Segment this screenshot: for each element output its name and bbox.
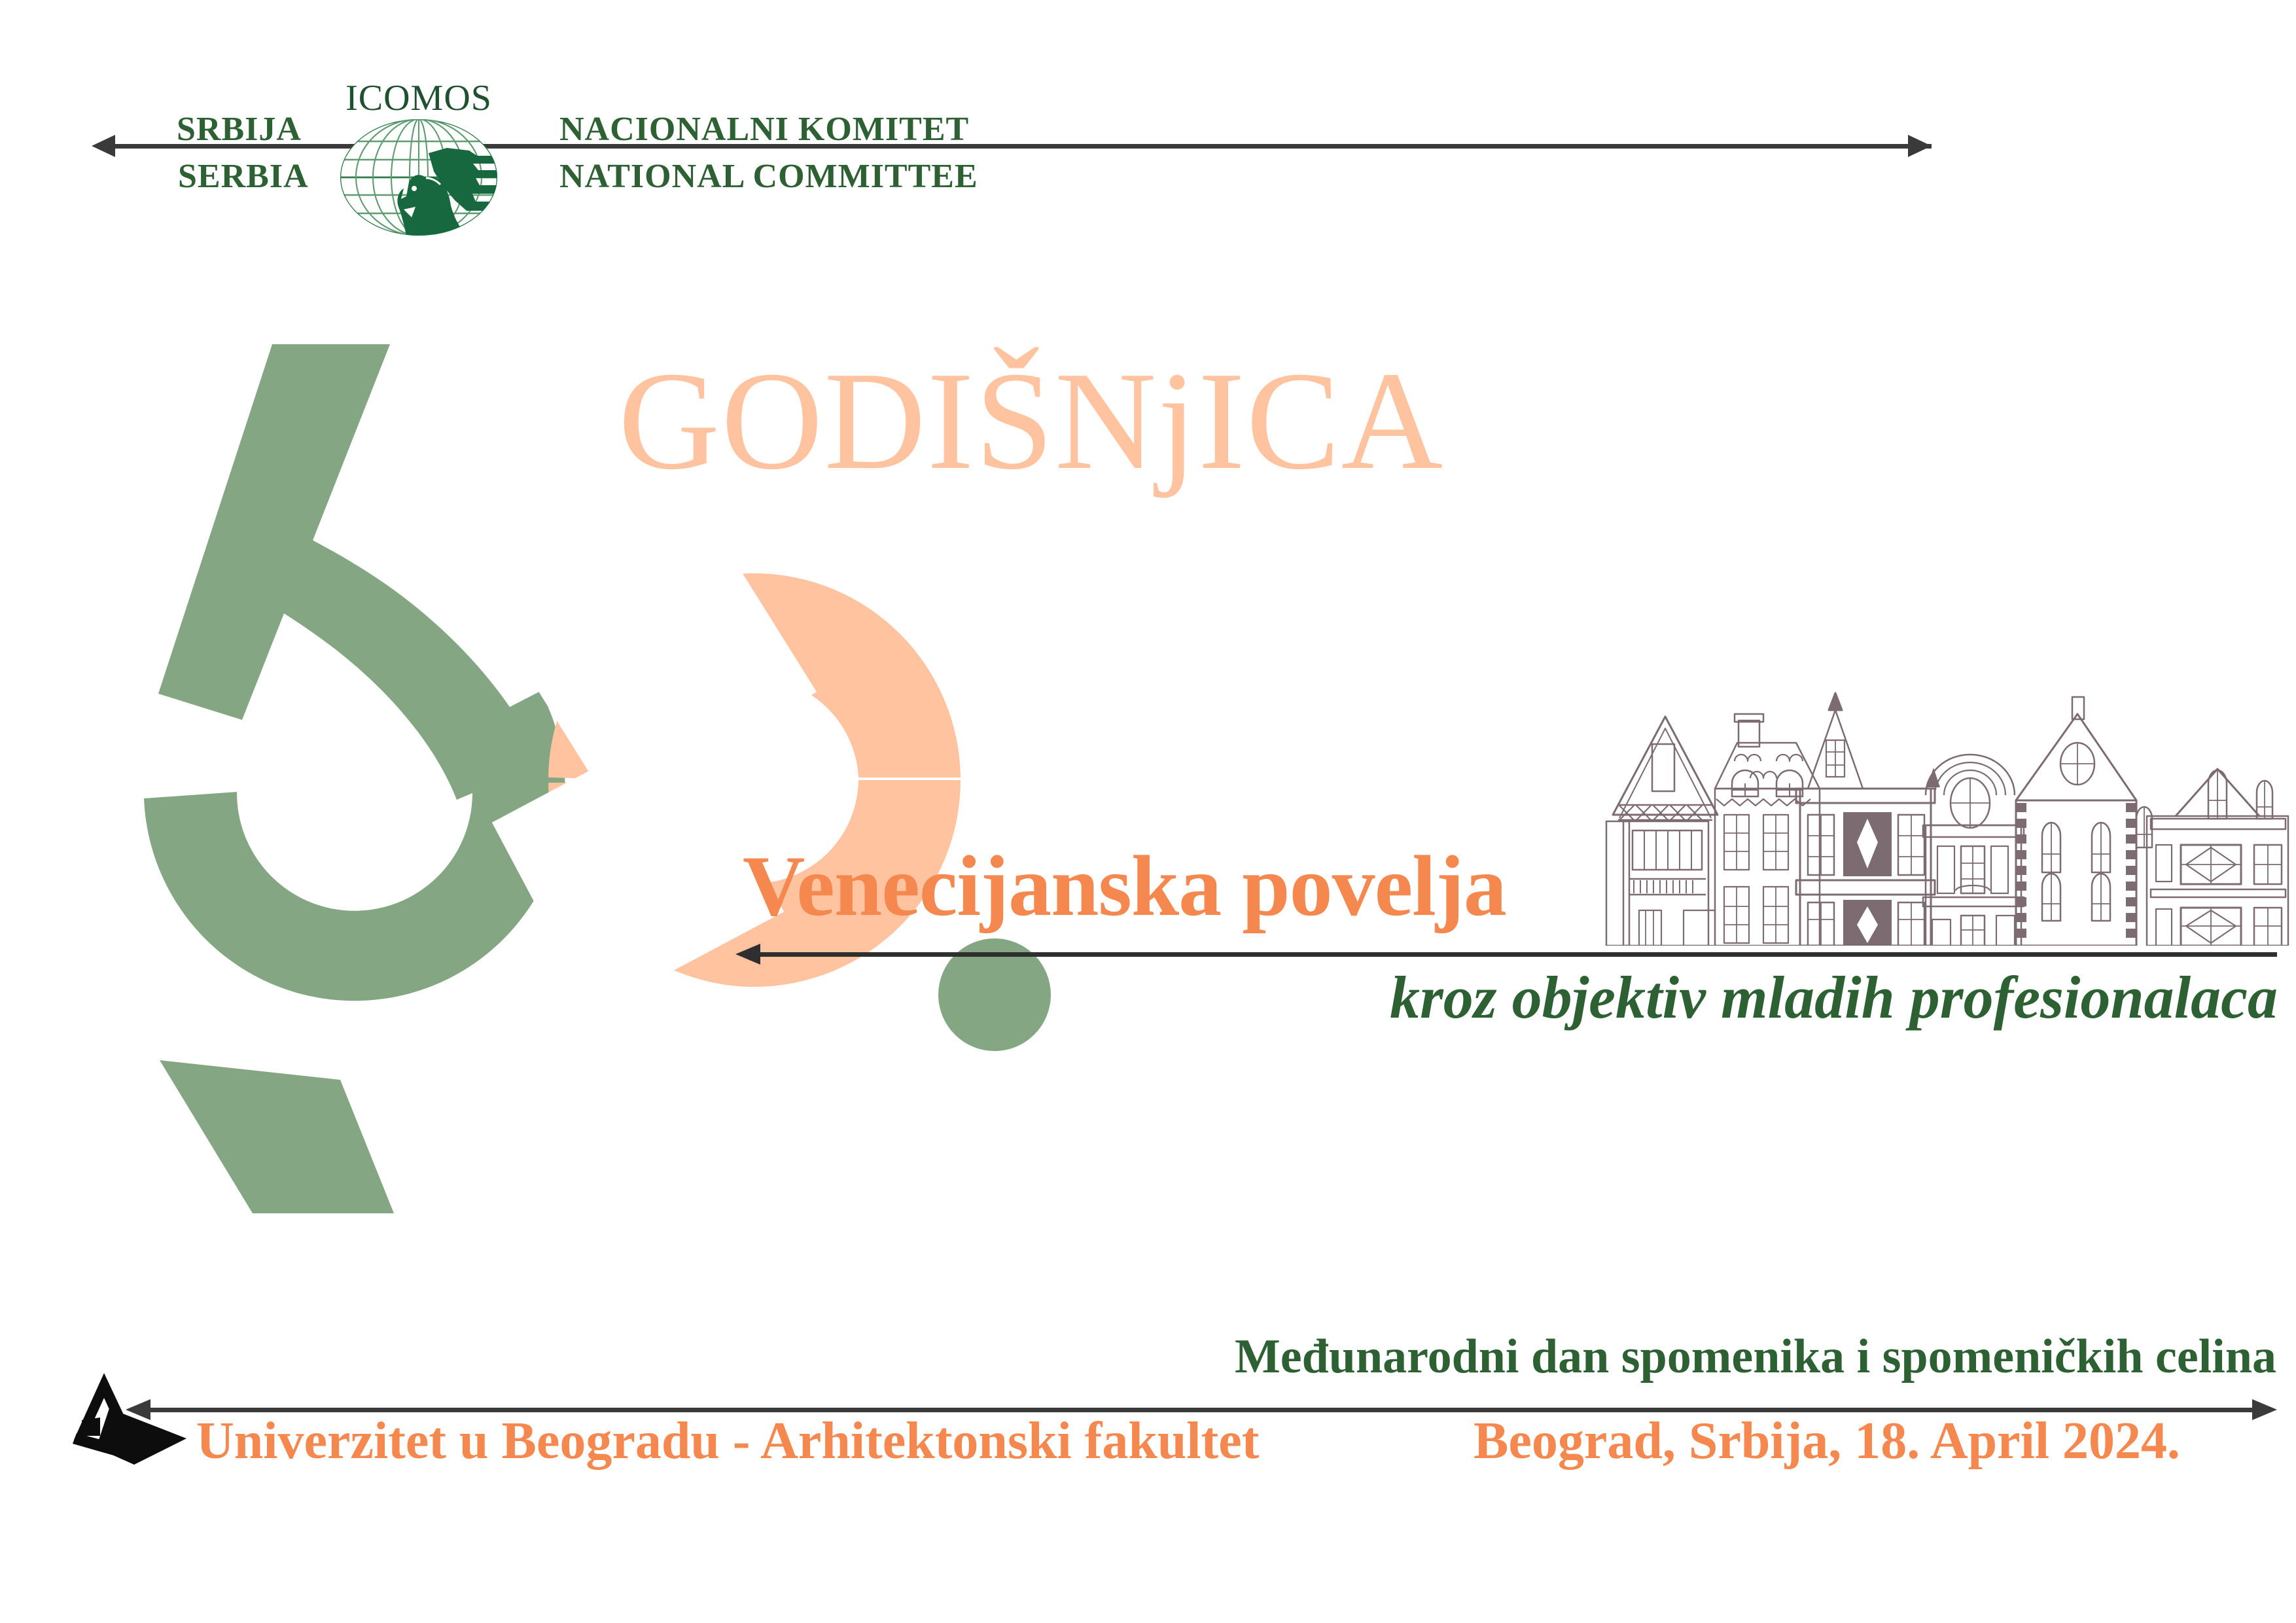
headline-venecijanska-povelja: Venecijanska povelja [743, 843, 1506, 929]
subtitle-kroz-objektiv: kroz objektiv mladih profesionalaca [1390, 967, 2278, 1027]
historic-townhouses-streetscape-icon [1600, 690, 2293, 946]
footer-occasion: Međunarodni dan spomenika i spomeničkih … [1235, 1332, 2276, 1381]
header-country-english: SERBIA [178, 157, 309, 196]
icomos-header: SRBIJA SERBIA NACIONALNI KOMITET NATIONA… [0, 0, 2296, 236]
footer-arrow-right-icon [2252, 1399, 2277, 1420]
poster-canvas: SRBIJA SERBIA NACIONALNI KOMITET NATIONA… [0, 0, 2296, 1623]
header-arrow-right-icon [1908, 135, 1932, 157]
header-committee-serbian: NACIONALNI KOMITET [559, 110, 969, 149]
icomos-logo: ICOMOS [330, 77, 507, 234]
middle-arrow-left-icon [735, 944, 760, 965]
architecture-faculty-logo-icon [62, 1368, 200, 1492]
icomos-globe-horse-icon [338, 118, 499, 237]
footer-divider-line [149, 1408, 2257, 1412]
header-committee-english: NATIONAL COMMITTEE [559, 157, 978, 196]
townhouses-illustration [1600, 690, 2293, 946]
footer-institution: Univerzitet u Beogradu - Arhitektonski f… [196, 1415, 1259, 1467]
header-country-serbian: SRBIJA [177, 110, 302, 149]
digit-six-shape [144, 344, 565, 1213]
middle-divider-line [759, 952, 2277, 957]
page-title-godisnjica: GODIŠNjICA [618, 350, 1444, 491]
digit-zero-shape [492, 492, 961, 1013]
footer-place-date: Beograd, Srbija, 18. April 2024. [1474, 1415, 2180, 1467]
icomos-wordmark: ICOMOS [330, 77, 507, 119]
